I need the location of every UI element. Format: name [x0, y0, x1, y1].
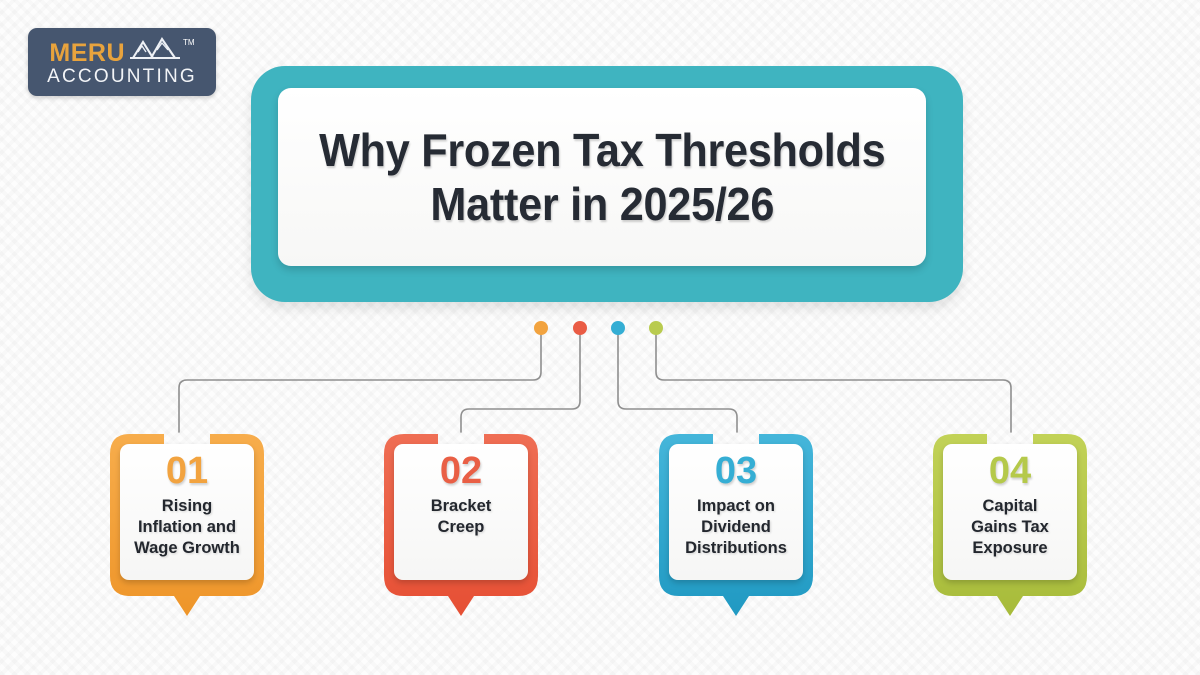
title-card: Why Frozen Tax Thresholds Matter in 2025…	[278, 88, 926, 266]
card-content-02: 02 Bracket Creep	[394, 444, 528, 580]
card-number-01: 01	[166, 450, 208, 492]
infographic-canvas: MERU TM ACCOUNTING Why Frozen Tax Thresh…	[0, 0, 1200, 675]
card-content-04: 04 Capital Gains Tax Exposure	[943, 444, 1077, 580]
card-label-02: Bracket Creep	[431, 496, 492, 538]
mountain-icon	[129, 36, 181, 65]
card-bracket-creep[interactable]: 02 Bracket Creep	[370, 430, 552, 622]
meru-accounting-logo: MERU TM ACCOUNTING	[28, 28, 216, 96]
card-label-03: Impact on Dividend Distributions	[685, 496, 787, 558]
dot-03-icon	[611, 321, 625, 335]
card-impact-on-dividend-distributions[interactable]: 03 Impact on Dividend Distributions	[645, 430, 827, 622]
logo-subbrand-text: ACCOUNTING	[47, 66, 197, 88]
title-banner-frame: Why Frozen Tax Thresholds Matter in 2025…	[251, 66, 963, 302]
card-rising-inflation-and-wage-growth[interactable]: 01 Rising Inflation and Wage Growth	[96, 430, 278, 622]
card-label-04: Capital Gains Tax Exposure	[971, 496, 1049, 558]
page-title: Why Frozen Tax Thresholds Matter in 2025…	[319, 123, 885, 232]
card-content-01: 01 Rising Inflation and Wage Growth	[120, 444, 254, 580]
logo-brand-text: MERU	[49, 41, 125, 66]
card-number-04: 04	[989, 450, 1031, 492]
card-number-03: 03	[715, 450, 757, 492]
dot-04-icon	[649, 321, 663, 335]
logo-wordmark-row: MERU TM	[49, 38, 194, 66]
trademark-symbol: TM	[183, 38, 195, 47]
card-capital-gains-tax-exposure[interactable]: 04 Capital Gains Tax Exposure	[919, 430, 1101, 622]
card-number-02: 02	[440, 450, 482, 492]
dot-01-icon	[534, 321, 548, 335]
dot-02-icon	[573, 321, 587, 335]
card-label-01: Rising Inflation and Wage Growth	[134, 496, 240, 558]
connector-dots	[534, 321, 663, 335]
card-content-03: 03 Impact on Dividend Distributions	[669, 444, 803, 580]
